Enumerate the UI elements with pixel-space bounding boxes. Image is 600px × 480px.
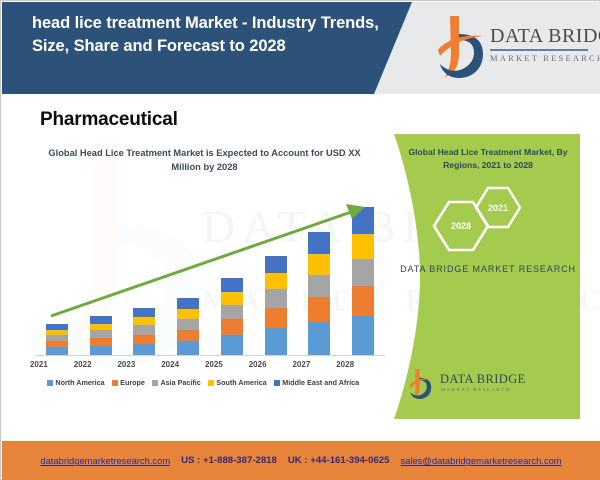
chart-bar-segment <box>90 338 112 346</box>
legend-swatch-icon <box>47 380 53 386</box>
chart-x-label: 2027 <box>286 360 316 369</box>
chart-bar <box>46 324 68 355</box>
chart-x-label: 2022 <box>68 360 98 369</box>
chart-bar-segment <box>352 207 374 234</box>
header-logo-text: DATA BRIDGE MARKET RESEARCH <box>490 26 588 63</box>
legend-swatch-icon <box>112 380 118 386</box>
hexagon-2021-label: 2021 <box>488 203 508 213</box>
chart-bar-segment <box>90 346 112 355</box>
legend-label: North America <box>55 378 104 387</box>
header-logo-tagline: MARKET RESEARCH <box>490 54 588 63</box>
chart-bar-segment <box>177 341 199 355</box>
chart-legend-item[interactable]: Middle East and Africa <box>274 378 359 387</box>
chart-bar <box>133 308 155 355</box>
chart-legend-item[interactable]: Europe <box>112 378 145 387</box>
hexagon-year-2028: 2028 <box>432 200 490 252</box>
page-title: head lice treatment Market - Industry Tr… <box>32 12 392 59</box>
legend-label: Europe <box>120 378 145 387</box>
chart-bar-segment <box>308 275 330 297</box>
chart-x-axis <box>35 355 385 356</box>
section-title: Pharmaceutical <box>40 109 178 131</box>
legend-label: Middle East and Africa <box>282 378 359 387</box>
regions-panel-subtitle: DATA BRIDGE MARKET RESEARCH <box>400 262 576 277</box>
chart-x-label: 2023 <box>111 360 141 369</box>
chart-x-label: 2026 <box>243 360 273 369</box>
chart-bar <box>352 207 374 355</box>
chart-bar-segment <box>265 328 287 355</box>
header-logo-divider <box>490 49 588 51</box>
chart-bar <box>221 278 243 355</box>
chart-x-label: 2024 <box>155 360 185 369</box>
chart-bar-segment <box>265 256 287 273</box>
regions-panel-title: Global Head Lice Treatment Market, By Re… <box>402 146 574 173</box>
chart-bar-segment <box>308 232 330 254</box>
chart-bar-segment <box>221 319 243 335</box>
chart-bar-segment <box>133 335 155 344</box>
chart-legend: North AmericaEuropeAsia PacificSouth Ame… <box>23 378 383 387</box>
chart-bar-segment <box>352 316 374 355</box>
regions-panel-logo: DATA BRIDGE MARKET RESEARCH <box>406 366 534 402</box>
chart-bar-segment <box>177 319 199 330</box>
chart-bar-segment <box>221 335 243 355</box>
chart-legend-item[interactable]: South America <box>208 378 267 387</box>
chart-plot-area <box>35 194 385 356</box>
chart-bar-segment <box>352 286 374 316</box>
chart-bar-segment <box>352 259 374 286</box>
chart-legend-item[interactable]: Asia Pacific <box>152 378 201 387</box>
chart-bar-segment <box>265 289 287 308</box>
header-bar: head lice treatment Market - Industry Tr… <box>2 2 600 94</box>
chart-bar-segment <box>352 234 374 259</box>
legend-swatch-icon <box>208 380 214 386</box>
chart-bar-segment <box>133 317 155 325</box>
chart-x-label: 2021 <box>24 360 54 369</box>
legend-label: Asia Pacific <box>160 378 200 387</box>
year-hexagons: 2021 2028 <box>432 186 562 256</box>
footer-bar: databridgemarketresearch.com US : +1-888… <box>2 441 600 480</box>
header-logo-name: DATA BRIDGE <box>490 26 588 46</box>
chart-bar <box>177 298 199 355</box>
regions-panel-logo-name: DATA BRIDGE <box>440 372 526 387</box>
chart-bar-segment <box>90 316 112 324</box>
legend-swatch-icon <box>274 380 280 386</box>
data-bridge-logo-icon <box>436 14 488 80</box>
chart-legend-item[interactable]: North America <box>47 378 105 387</box>
chart-bar-segment <box>221 292 243 305</box>
chart-bar-segment <box>177 309 199 318</box>
slide-body: DATA BRIDGE MARKET RESEARCH Pharmaceutic… <box>2 94 600 441</box>
chart-x-label: 2025 <box>199 360 229 369</box>
chart-bar-segment <box>90 330 112 338</box>
chart-title: Global Head Lice Treatment Market is Exp… <box>47 146 362 175</box>
chart-bar-segment <box>308 254 330 274</box>
chart-bar-segment <box>221 305 243 319</box>
legend-label: South America <box>216 378 266 387</box>
chart-bar-segment <box>308 322 330 355</box>
footer-website-link[interactable]: databridgemarketresearch.com <box>40 455 170 466</box>
regions-panel-logo-tagline: MARKET RESEARCH <box>441 387 511 392</box>
header-brand-logo: DATA BRIDGE MARKET RESEARCH <box>436 12 588 84</box>
chart-bar-segment <box>46 347 68 355</box>
chart-bar <box>90 316 112 355</box>
market-chart: Global Head Lice Treatment Market is Exp… <box>17 146 389 396</box>
chart-bar-segment <box>133 308 155 317</box>
chart-bar-segment <box>133 325 155 334</box>
footer-uk-phone: UK : +44-161-394-0625 <box>288 455 390 466</box>
chart-bar-segment <box>177 298 199 309</box>
footer-us-phone: US : +1-888-387-2818 <box>181 455 277 466</box>
chart-bar-segment <box>265 308 287 328</box>
chart-bar-segment <box>177 330 199 341</box>
regions-panel: Global Head Lice Treatment Market, By Re… <box>380 134 580 419</box>
footer-email-link[interactable]: sales@databridgemarketresearch.com <box>400 455 561 466</box>
chart-bars <box>35 197 385 355</box>
chart-bar-segment <box>221 278 243 292</box>
chart-bar <box>308 232 330 355</box>
chart-bar-segment <box>308 297 330 322</box>
chart-bar-segment <box>265 273 287 289</box>
slide-canvas: head lice treatment Market - Industry Tr… <box>0 0 600 480</box>
hexagon-2028-label: 2028 <box>451 221 471 231</box>
legend-swatch-icon <box>152 380 158 386</box>
chart-x-labels: 20212022202320242025202620272028 <box>17 360 367 369</box>
chart-bar <box>265 256 287 355</box>
chart-bar-segment <box>133 344 155 355</box>
chart-x-label: 2028 <box>330 360 360 369</box>
data-bridge-logo-icon <box>406 368 436 400</box>
